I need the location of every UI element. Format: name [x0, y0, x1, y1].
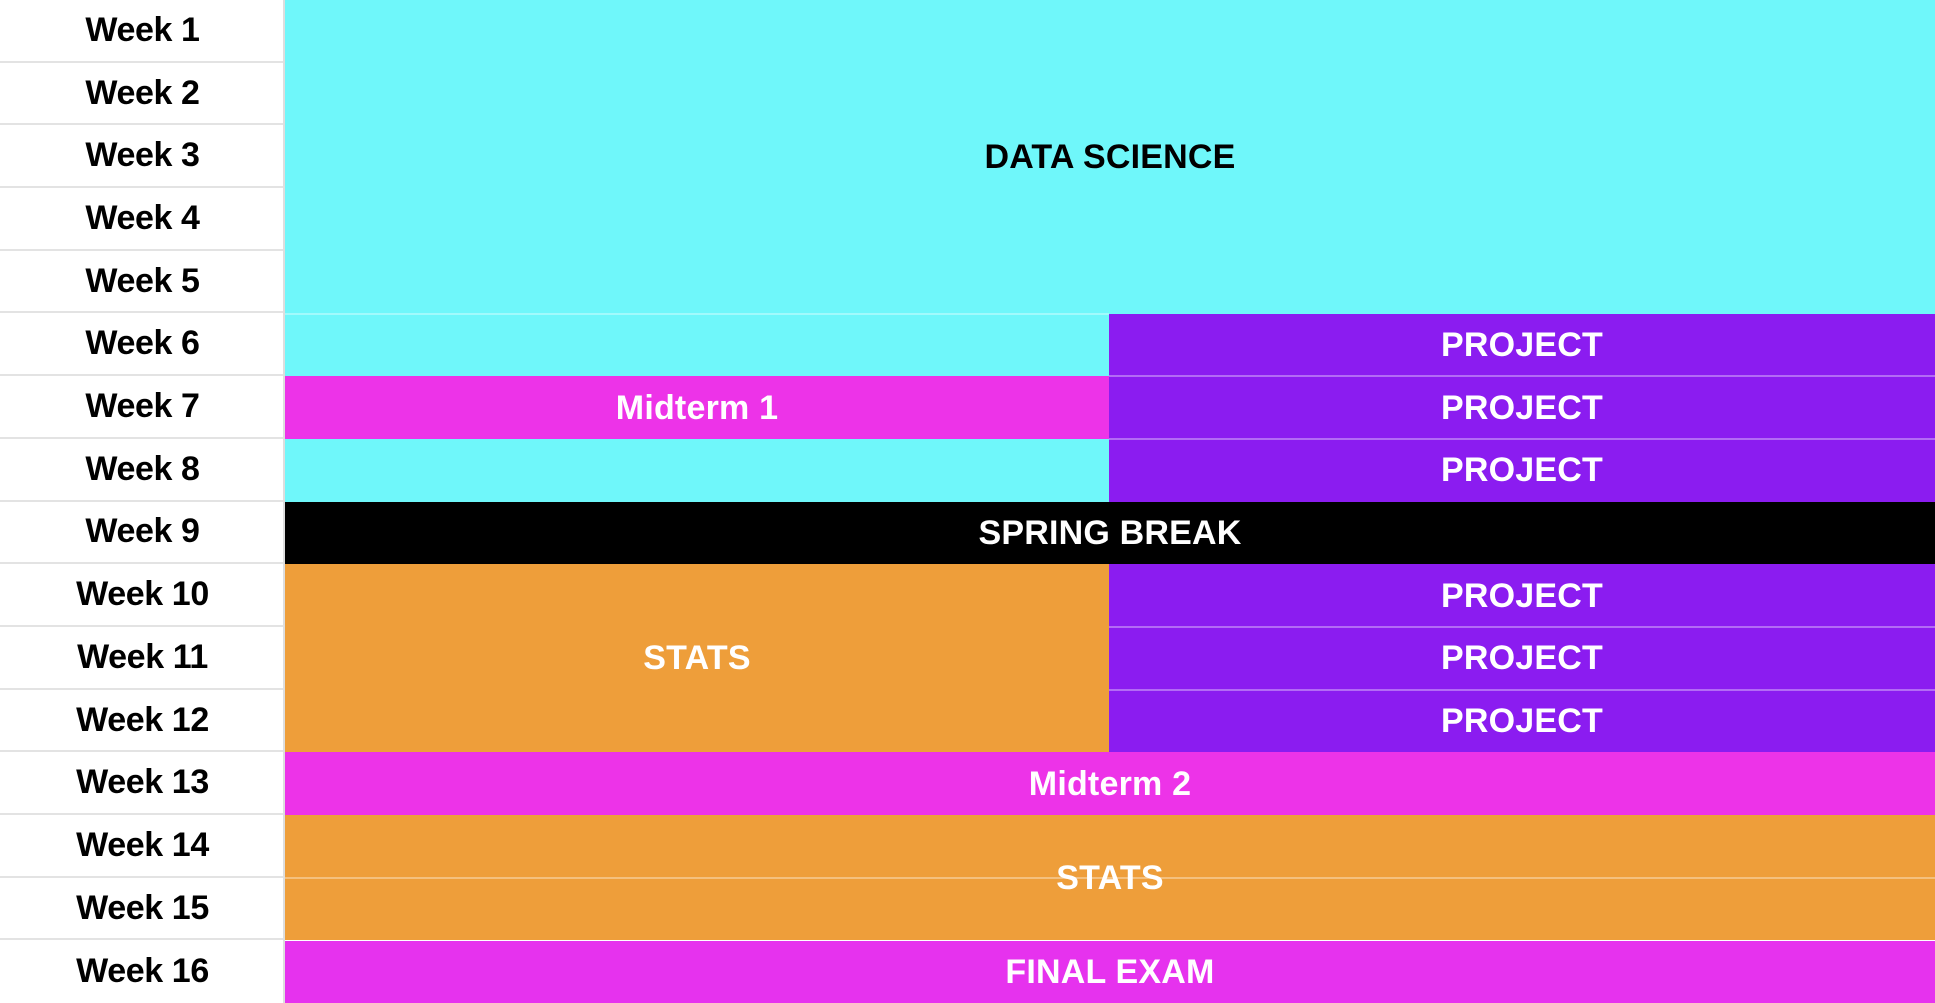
- week-label-cell: Week 8: [0, 439, 285, 502]
- schedule-bar-label: PROJECT: [1441, 704, 1603, 738]
- schedule-bar-project-week11[interactable]: PROJECT: [1109, 627, 1935, 690]
- week-label-column: Week 1Week 2Week 3Week 4Week 5Week 6Week…: [0, 0, 285, 1003]
- schedule-bar-data-science-block[interactable]: DATA SCIENCE: [285, 0, 1935, 314]
- schedule-bar-label: PROJECT: [1441, 641, 1603, 675]
- schedule-bar-spring-break[interactable]: SPRING BREAK: [285, 502, 1935, 565]
- schedule-bar-project-week12[interactable]: PROJECT: [1109, 690, 1935, 753]
- week-label-cell: Week 3: [0, 125, 285, 188]
- week-label-text: Week 7: [85, 387, 199, 426]
- week-label-cell: Week 13: [0, 752, 285, 815]
- schedule-bar-label: PROJECT: [1441, 328, 1603, 362]
- schedule-bar-label: Midterm 1: [616, 391, 778, 425]
- week-label-cell: Week 12: [0, 690, 285, 753]
- week-label-cell: Week 6: [0, 314, 285, 377]
- schedule-bar-stats-block-2[interactable]: STATS: [285, 815, 1935, 940]
- week-label-cell: Week 2: [0, 63, 285, 126]
- week-label-text: Week 16: [76, 952, 209, 991]
- week-label-cell: Week 9: [0, 502, 285, 565]
- week-label-cell: Week 4: [0, 188, 285, 251]
- schedule-bar-label: PROJECT: [1441, 453, 1603, 487]
- schedule-bar-label: FINAL EXAM: [1005, 955, 1214, 989]
- week-label-text: Week 12: [76, 701, 209, 740]
- week-label-cell: Week 15: [0, 878, 285, 941]
- schedule-bar-stats-block-1[interactable]: STATS: [285, 564, 1109, 752]
- schedule-bar-label: Midterm 2: [1029, 767, 1191, 801]
- schedule-bar-final-exam[interactable]: FINAL EXAM: [285, 941, 1935, 1003]
- week-label-text: Week 13: [76, 763, 209, 802]
- week-label-cell: Week 7: [0, 376, 285, 439]
- schedule-bar-label: STATS: [643, 641, 750, 675]
- week-label-text: Week 9: [85, 512, 199, 551]
- schedule-bar-label: PROJECT: [1441, 391, 1603, 425]
- label-timeline-divider: [283, 0, 285, 1003]
- schedule-bar-label: SPRING BREAK: [978, 516, 1241, 550]
- week-label-cell: Week 11: [0, 627, 285, 690]
- schedule-bar-midterm-2[interactable]: Midterm 2: [285, 752, 1935, 815]
- schedule-bar-project-week6[interactable]: PROJECT: [1109, 314, 1935, 377]
- week-label-text: Week 11: [77, 638, 208, 677]
- week-label-text: Week 14: [76, 826, 209, 865]
- week-label-text: Week 10: [76, 575, 209, 614]
- week-label-text: Week 6: [85, 324, 199, 363]
- schedule-bar-project-week10[interactable]: PROJECT: [1109, 564, 1935, 627]
- schedule-bar-label: DATA SCIENCE: [984, 140, 1235, 174]
- week-label-cell: Week 1: [0, 0, 285, 63]
- week-label-text: Week 3: [85, 136, 199, 175]
- week-label-text: Week 5: [85, 262, 199, 301]
- schedule-bar-label: PROJECT: [1441, 579, 1603, 613]
- schedule-bar-data-science-week6[interactable]: [285, 314, 1109, 377]
- schedule-bar-data-science-week8[interactable]: [285, 439, 1109, 502]
- week-label-text: Week 8: [85, 450, 199, 489]
- week-label-text: Week 4: [85, 199, 199, 238]
- week-label-cell: Week 5: [0, 251, 285, 314]
- schedule-bar-project-week8[interactable]: PROJECT: [1109, 439, 1935, 502]
- week-label-text: Week 2: [85, 74, 199, 113]
- week-label-text: Week 15: [76, 889, 209, 928]
- course-schedule-gantt: Week 1Week 2Week 3Week 4Week 5Week 6Week…: [0, 0, 1935, 1003]
- week-label-cell: Week 16: [0, 941, 285, 1003]
- schedule-bar-midterm-1[interactable]: Midterm 1: [285, 376, 1109, 439]
- schedule-bar-project-week7[interactable]: PROJECT: [1109, 376, 1935, 439]
- schedule-bar-label: STATS: [1056, 861, 1163, 895]
- week-label-cell: Week 10: [0, 564, 285, 627]
- week-label-text: Week 1: [85, 11, 199, 50]
- timeline-area: DATA SCIENCEMidterm 1PROJECTPROJECTPROJE…: [285, 0, 1935, 1003]
- week-label-cell: Week 14: [0, 815, 285, 878]
